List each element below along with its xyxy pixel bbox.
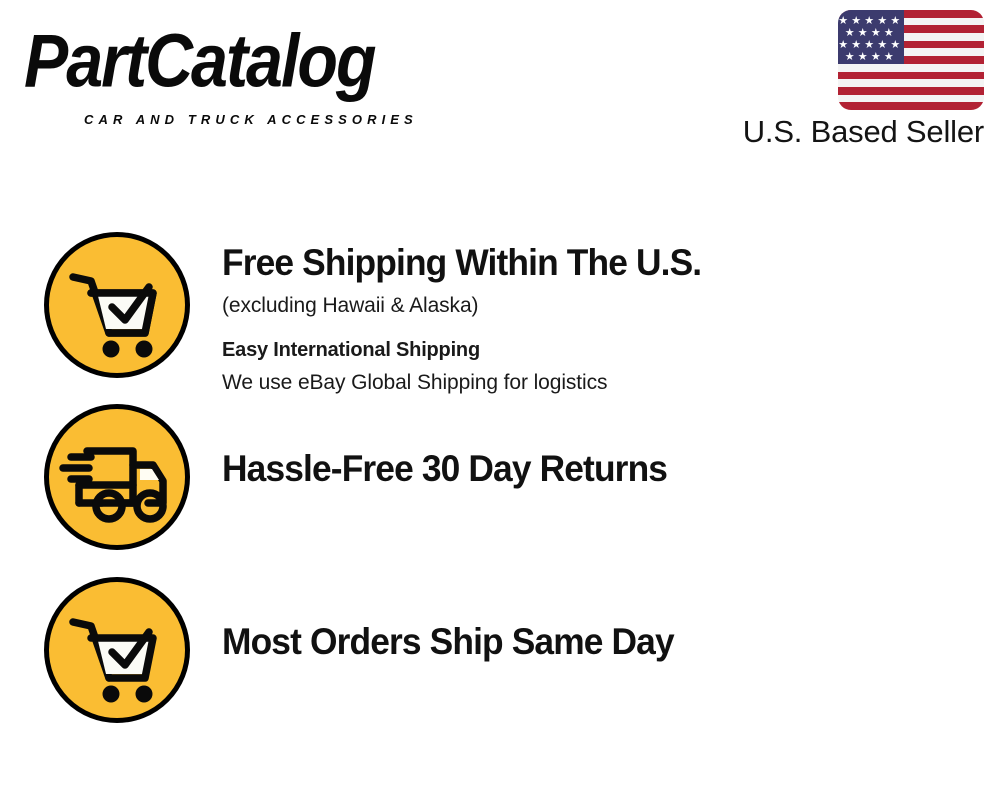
flag-star-row: ★★★★★	[838, 39, 904, 51]
feature-text: Hassle-Free 30 Day Returns	[222, 404, 1000, 492]
flag-star-row: ★★★★	[838, 27, 904, 39]
feature-title: Hassle-Free 30 Day Returns	[222, 446, 965, 492]
feature-row: Hassle-Free 30 Day Returns	[0, 404, 1000, 576]
feature-row: Most Orders Ship Same Day	[0, 577, 1000, 749]
flag-stripe	[838, 102, 984, 110]
feature-sub-text: We use eBay Global Shipping for logistic…	[222, 367, 1000, 398]
flag-stripe	[838, 79, 984, 87]
feature-title: Most Orders Ship Same Day	[222, 619, 965, 665]
feature-text: Free Shipping Within The U.S. (excluding…	[222, 232, 1000, 398]
brand-tagline: CAR AND TRUCK ACCESSORIES	[84, 112, 418, 127]
feature-text: Most Orders Ship Same Day	[222, 577, 1000, 665]
feature-row: Free Shipping Within The U.S. (excluding…	[0, 232, 1000, 412]
flag-canton: ★★★★★ ★★★★ ★★★★★ ★★★★	[838, 10, 904, 64]
shopping-cart-check-icon	[44, 232, 190, 378]
feature-title: Free Shipping Within The U.S.	[222, 240, 965, 286]
us-based-seller-badge: ★★★★★ ★★★★ ★★★★★ ★★★★ U.S. Based Seller	[714, 10, 984, 150]
us-flag-icon: ★★★★★ ★★★★ ★★★★★ ★★★★	[838, 10, 984, 110]
brand-logo[interactable]: PartCatalog CAR AND TRUCK ACCESSORIES	[24, 24, 494, 114]
us-based-seller-label: U.S. Based Seller	[714, 114, 984, 150]
page-header: PartCatalog CAR AND TRUCK ACCESSORIES ★★…	[0, 0, 1000, 175]
delivery-truck-icon	[44, 404, 190, 550]
flag-stripe	[838, 72, 984, 80]
flag-star-row: ★★★★	[838, 51, 904, 63]
flag-stripe	[838, 64, 984, 72]
feature-note: (excluding Hawaii & Alaska)	[222, 290, 1000, 321]
flag-star-row: ★★★★★	[838, 15, 904, 27]
shopping-cart-check-icon	[44, 577, 190, 723]
brand-wordmark: PartCatalog	[24, 24, 489, 100]
flag-stripe	[838, 87, 984, 95]
flag-stripe	[838, 95, 984, 103]
feature-sub-heading: Easy International Shipping	[222, 335, 1000, 366]
